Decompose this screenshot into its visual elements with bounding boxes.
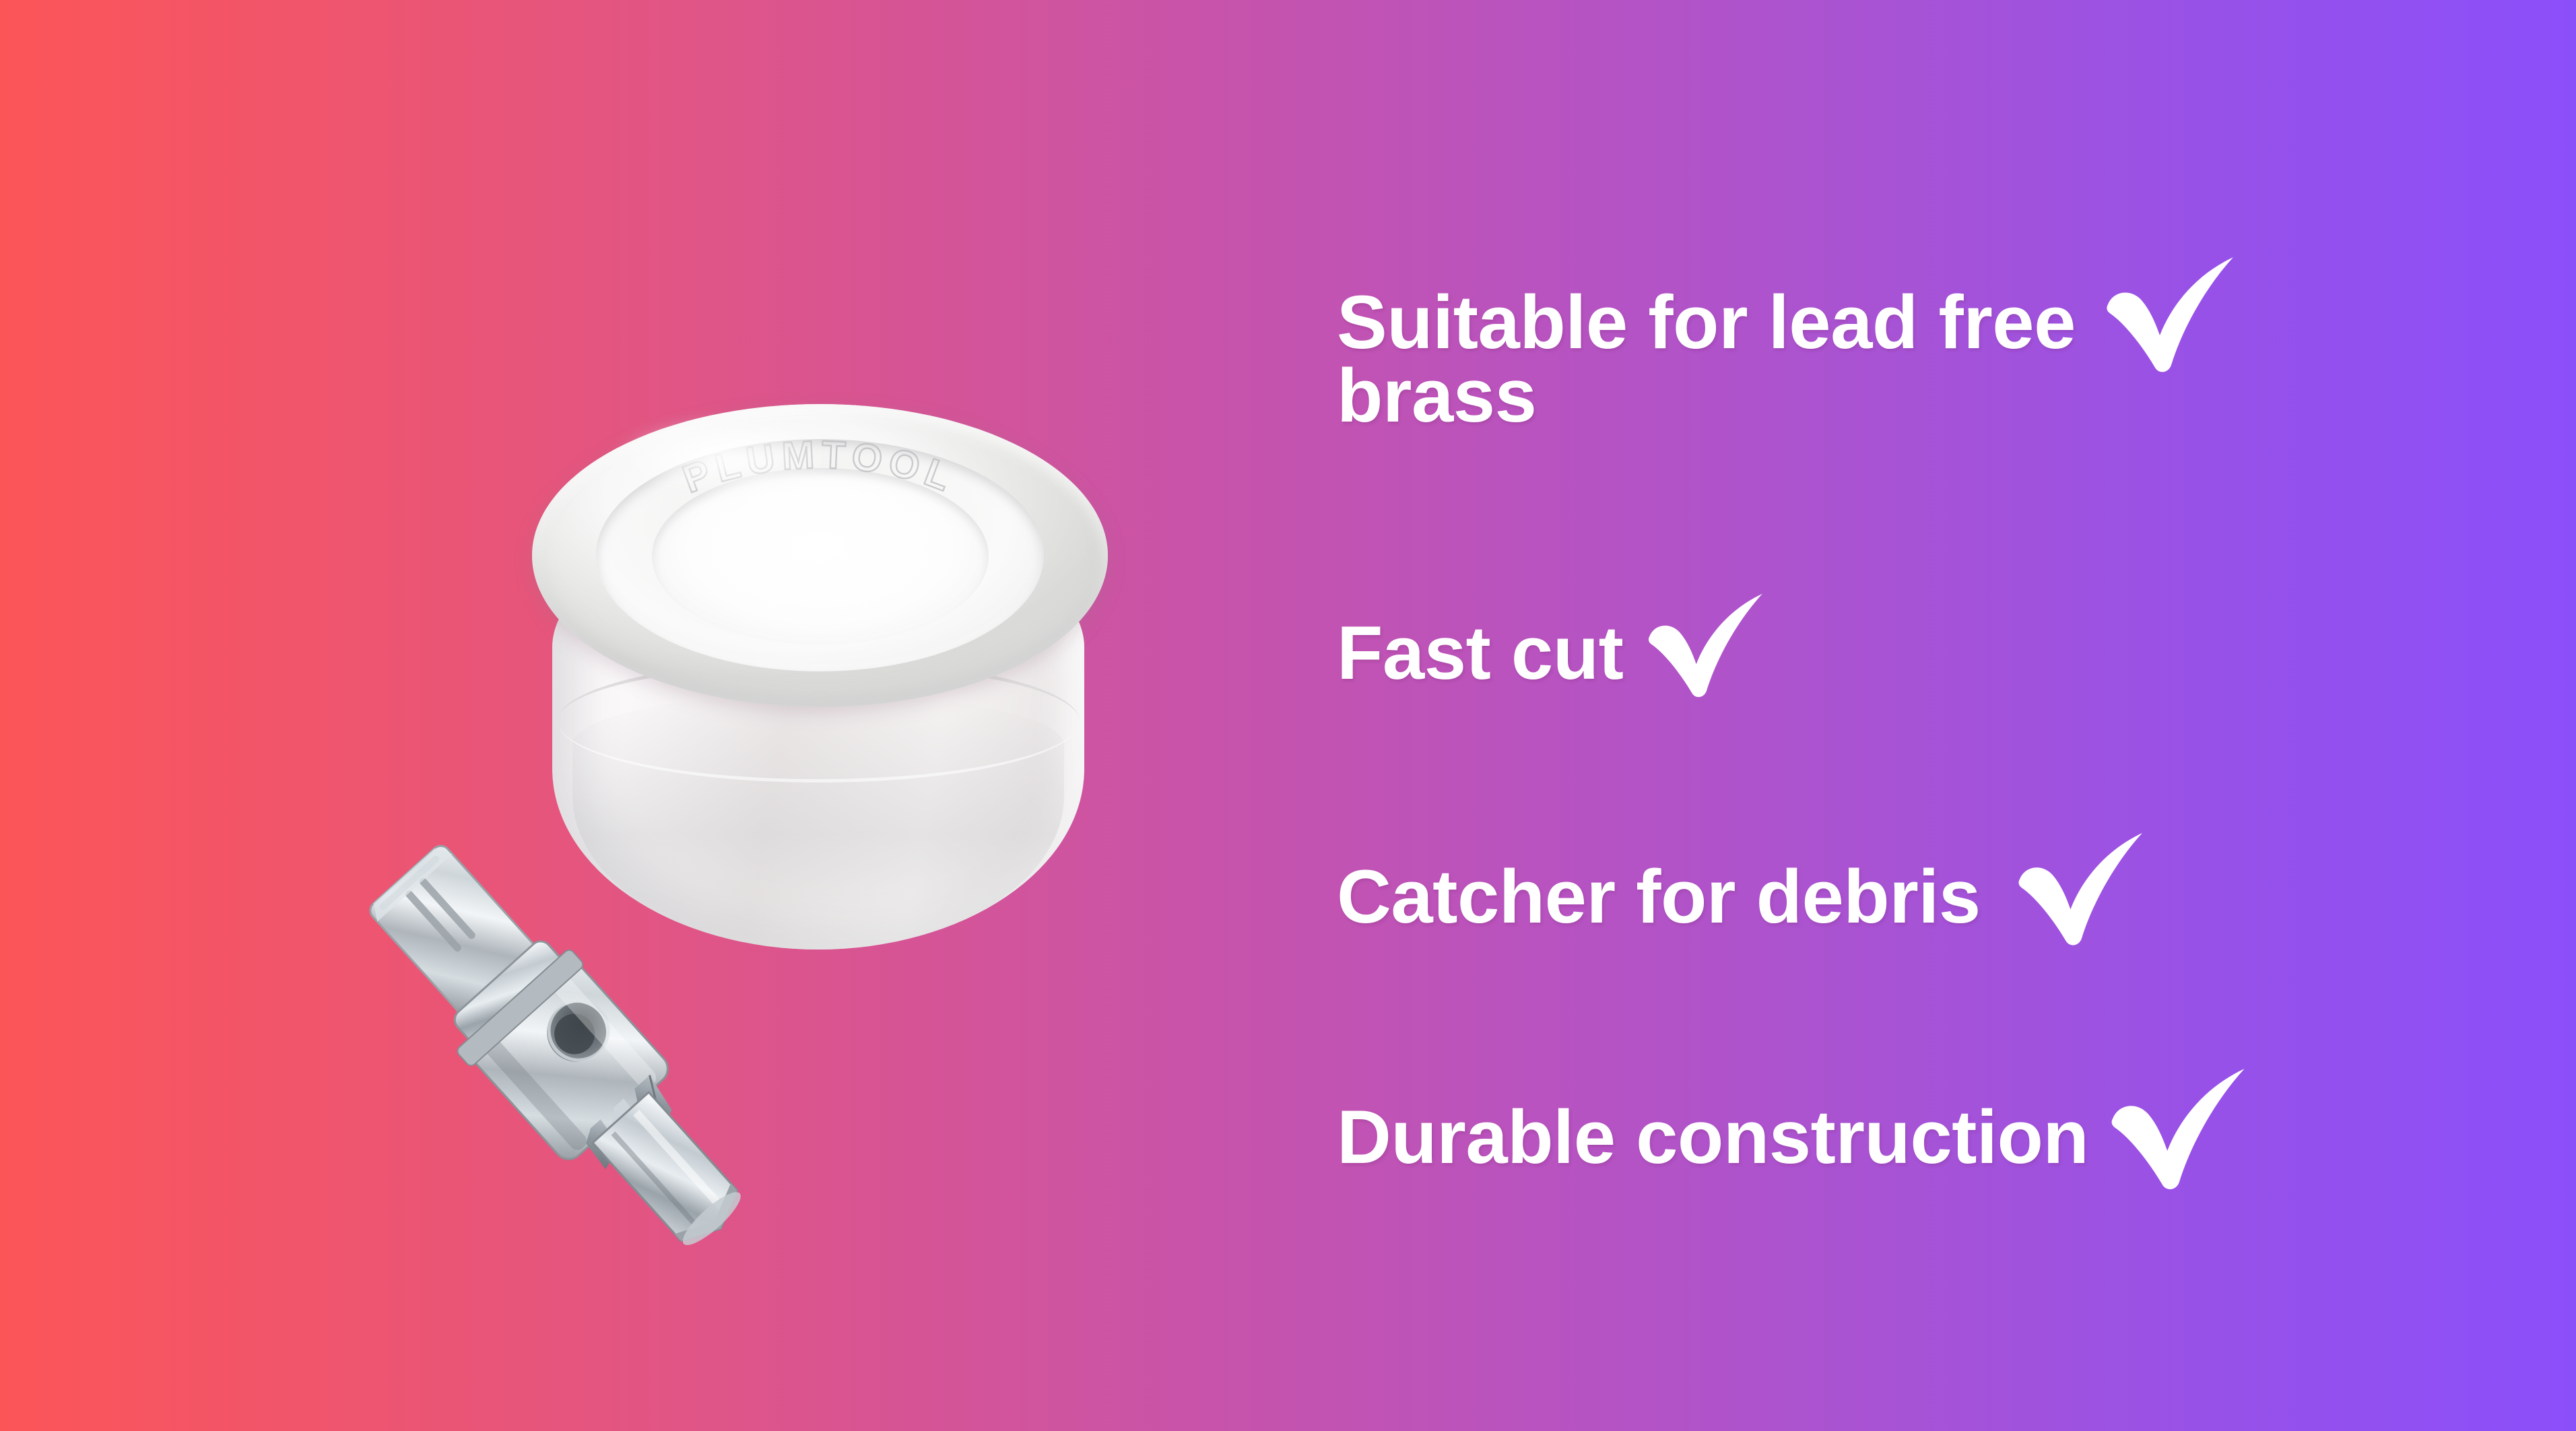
feature-label: Suitable for lead free: [1337, 285, 2076, 360]
deburring-tool-illustration: [242, 754, 795, 1266]
feature-label-continuation: brass: [1337, 358, 1536, 434]
check-icon: [2104, 256, 2239, 389]
promo-graphic: PLUMTOOL: [0, 0, 2576, 1431]
feature-item-catcher: Catcher for debris: [1337, 832, 2148, 962]
product-photo: PLUMTOOL: [202, 350, 1212, 1293]
deburring-tool: [242, 754, 795, 1266]
cup-highlight: [613, 416, 835, 497]
check-icon: [2109, 1067, 2250, 1207]
feature-label: Catcher for debris: [1337, 859, 1981, 935]
feature-label: Durable construction: [1337, 1100, 2088, 1175]
feature-label: Fast cut: [1337, 615, 1623, 691]
check-icon: [1646, 593, 1767, 714]
check-icon: [2016, 832, 2148, 962]
feature-item-durable: Durable construction: [1337, 1067, 2250, 1207]
feature-item-fast-cut: Fast cut: [1337, 593, 1767, 714]
